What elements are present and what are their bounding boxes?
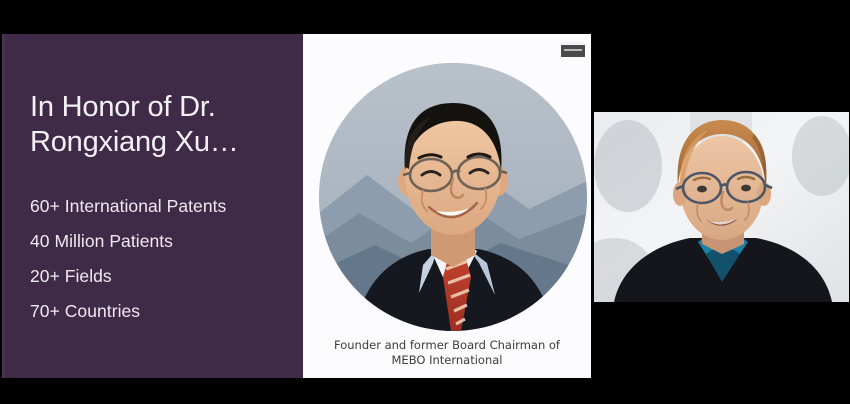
slide-title: In Honor of Dr. Rongxiang Xu… (30, 90, 292, 160)
logo-badge-icon (561, 42, 585, 57)
caption-line-2: MEBO International (303, 353, 591, 368)
slide-image-panel: Founder and former Board Chairman of MEB… (303, 34, 591, 378)
portrait-caption: Founder and former Board Chairman of MEB… (303, 338, 591, 367)
slide-bullet-list: 60+ International Patents 40 Million Pat… (30, 189, 298, 329)
list-item: 40 Million Patients (30, 224, 298, 259)
participant-video-tile[interactable] (594, 112, 849, 302)
shared-slide[interactable]: In Honor of Dr. Rongxiang Xu… 60+ Intern… (2, 34, 591, 378)
list-item: 60+ International Patents (30, 189, 298, 224)
list-item: 70+ Countries (30, 294, 298, 329)
slide-text-panel: In Honor of Dr. Rongxiang Xu… 60+ Intern… (2, 34, 303, 378)
list-item: 20+ Fields (30, 259, 298, 294)
caption-line-1: Founder and former Board Chairman of (303, 338, 591, 353)
portrait-photo (319, 63, 587, 331)
screen-share-stage: In Honor of Dr. Rongxiang Xu… 60+ Intern… (0, 0, 850, 404)
